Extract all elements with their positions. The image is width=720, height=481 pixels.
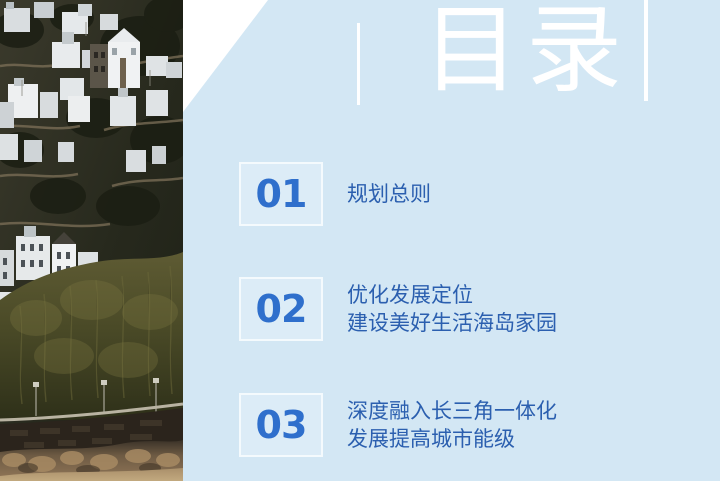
toc-label-01: 规划总则	[347, 180, 431, 208]
toc-label-01-line-1: 规划总则	[347, 180, 431, 208]
toc-slide: 目录 01 规划总则 02 优化发展定位 建设美好生活海岛家园 03	[0, 0, 720, 481]
toc-number-02: 02	[256, 290, 307, 328]
coastal-village-photo	[0, 0, 183, 481]
toc-number-box-03: 03	[239, 393, 323, 457]
toc-label-02-line-1: 优化发展定位	[347, 281, 557, 309]
toc-item-01[interactable]: 01 规划总则	[239, 162, 431, 226]
toc-number-box-01: 01	[239, 162, 323, 226]
title-rule-left	[357, 23, 360, 105]
toc-item-02[interactable]: 02 优化发展定位 建设美好生活海岛家园	[239, 277, 557, 341]
toc-label-02-line-2: 建设美好生活海岛家园	[347, 309, 557, 337]
page-title: 目录	[423, 0, 629, 106]
toc-label-03: 深度融入长三角一体化 发展提高城市能级	[347, 397, 557, 453]
toc-label-02: 优化发展定位 建设美好生活海岛家园	[347, 281, 557, 337]
toc-number-01: 01	[256, 175, 307, 213]
toc-label-03-line-1: 深度融入长三角一体化	[347, 397, 557, 425]
toc-item-03[interactable]: 03 深度融入长三角一体化 发展提高城市能级	[239, 393, 557, 457]
toc-number-03: 03	[256, 406, 307, 444]
toc-number-box-02: 02	[239, 277, 323, 341]
slide-title-block: 目录	[183, 0, 720, 118]
toc-label-03-line-2: 发展提高城市能级	[347, 425, 557, 453]
title-rule-right	[644, 0, 648, 101]
